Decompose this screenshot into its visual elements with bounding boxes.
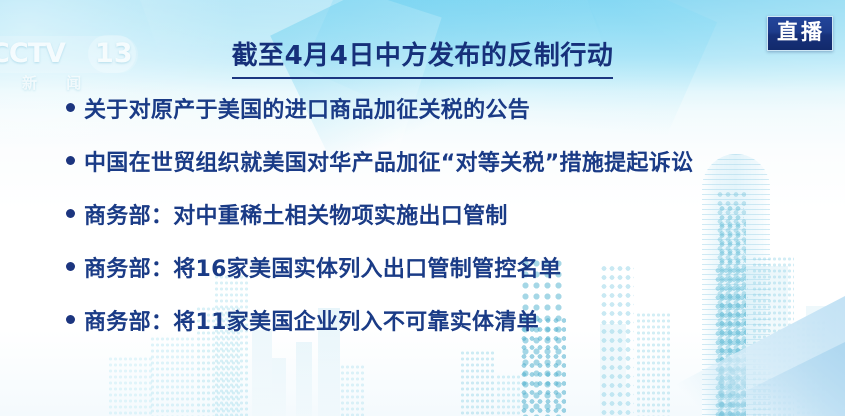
list-item-label: 中国在世贸组织就美国对华产品加征“对等关税”措施提起诉讼 — [84, 153, 693, 175]
list-item-label: 关于对原产于美国的进口商品加征关税的公告 — [84, 100, 530, 122]
bullet-dot-icon — [66, 156, 75, 165]
page-title: 截至4月4日中方发布的反制行动 — [232, 42, 614, 79]
bullet-dot-icon — [66, 315, 75, 324]
list-item: 中国在世贸组织就美国对华产品加征“对等关税”措施提起诉讼 — [66, 153, 825, 206]
list-item-label: 商务部：对中重稀土相关物项实施出口管制 — [84, 206, 508, 228]
broadcast-graphic: CCTV 13 新 闻 直播 截至4月4日中方发布的反制行动 关于对原产于美国的… — [0, 0, 845, 416]
measures-list: 关于对原产于美国的进口商品加征关税的公告 中国在世贸组织就美国对华产品加征“对等… — [66, 100, 825, 365]
headline-container: 截至4月4日中方发布的反制行动 — [0, 42, 845, 79]
bullet-dot-icon — [66, 209, 75, 218]
list-item-label: 商务部：将16家美国实体列入出口管制管控名单 — [84, 259, 561, 281]
list-item-label: 商务部：将11家美国企业列入不可靠实体清单 — [84, 312, 539, 334]
list-item: 商务部：将11家美国企业列入不可靠实体清单 — [66, 312, 825, 365]
bullet-dot-icon — [66, 262, 75, 271]
bullet-dot-icon — [66, 103, 75, 112]
list-item: 关于对原产于美国的进口商品加征关税的公告 — [66, 100, 825, 153]
list-item: 商务部：将16家美国实体列入出口管制管控名单 — [66, 259, 825, 312]
list-item: 商务部：对中重稀土相关物项实施出口管制 — [66, 206, 825, 259]
